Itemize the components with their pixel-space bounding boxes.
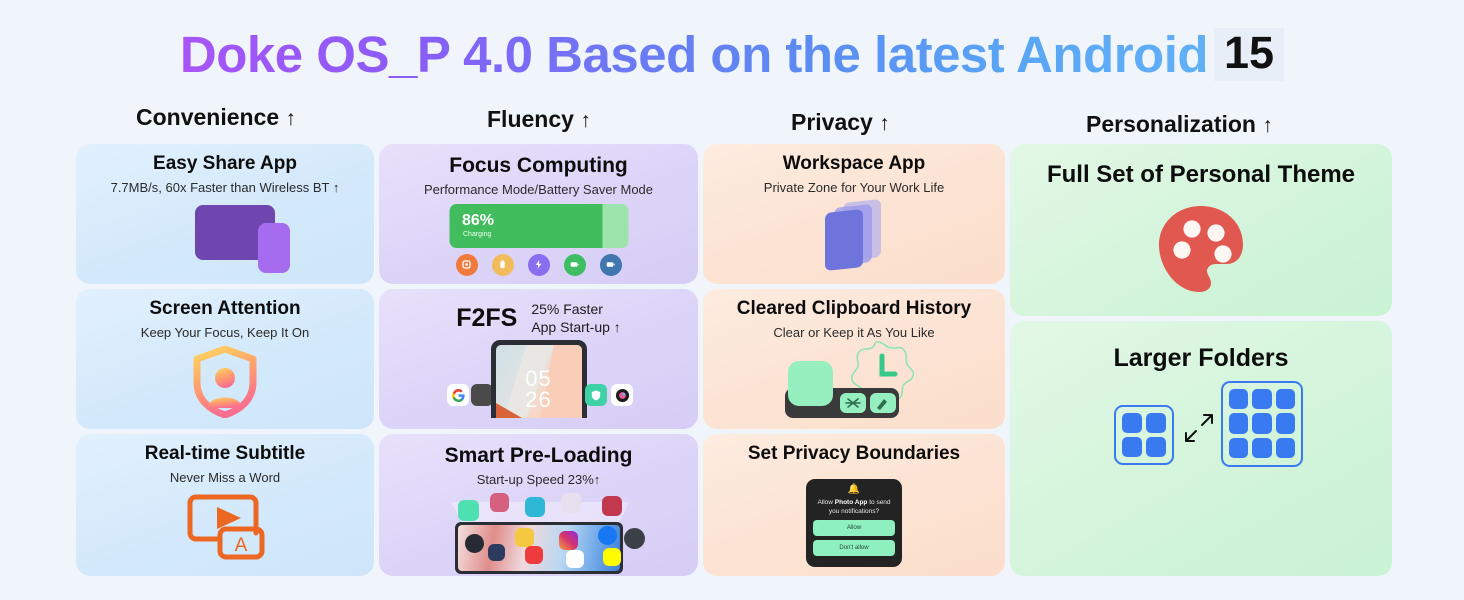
card-title: Full Set of Personal Theme bbox=[1010, 162, 1392, 188]
app-icon-game-4 bbox=[602, 496, 622, 516]
column-header-convenience: Convenience ↑ bbox=[136, 104, 296, 131]
column-header-personalization-label: Personalization bbox=[1086, 111, 1256, 137]
f2fs-name: F2FS bbox=[456, 304, 517, 333]
grid-cell bbox=[1122, 413, 1142, 433]
promo-page: Doke OS_P 4.0 Based on the latest Androi… bbox=[0, 0, 1464, 600]
app-icon-facebook bbox=[598, 526, 617, 545]
shield-person-icon bbox=[76, 340, 374, 422]
app-icon-game-1 bbox=[490, 493, 509, 512]
android-version-badge: 15 bbox=[1214, 28, 1284, 81]
card-title: Screen Attention bbox=[76, 299, 374, 320]
allow-button[interactable]: Allow bbox=[813, 520, 895, 536]
column-header-privacy: Privacy ↑ bbox=[791, 109, 890, 136]
app-icon-game-2 bbox=[525, 497, 545, 517]
card-title: Set Privacy Boundaries bbox=[703, 444, 1005, 465]
card-cleared-clipboard-history[interactable]: Cleared Clipboard History Clear or Keep … bbox=[703, 289, 1005, 429]
grid-cell bbox=[1276, 413, 1295, 434]
column-header-fluency-label: Fluency bbox=[487, 106, 574, 132]
card-f2fs[interactable]: F2FS 25% Faster App Start-up ↑ bbox=[379, 289, 698, 429]
cpu-chip-icon[interactable] bbox=[456, 254, 478, 276]
f2fs-desc-line1: 25% Faster bbox=[531, 301, 621, 319]
permission-text-before: Allow bbox=[817, 499, 834, 506]
card-real-time-subtitle[interactable]: Real-time Subtitle Never Miss a Word A bbox=[76, 434, 374, 576]
page-title-text: Doke OS_P 4.0 Based on the latest Androi… bbox=[180, 25, 1208, 84]
battery-bar: 86% Charging bbox=[449, 204, 628, 248]
card-larger-folders[interactable]: Larger Folders bbox=[1010, 321, 1392, 576]
app-icon-game-5 bbox=[488, 544, 505, 561]
app-icon-wps bbox=[525, 546, 543, 564]
app-icon-snapchat bbox=[603, 548, 621, 566]
card-title: Real-time Subtitle bbox=[76, 444, 374, 465]
clock-minutes: 26 bbox=[496, 390, 582, 411]
notification-permission-dialog: 🔔 Allow Photo App to send you notificati… bbox=[703, 477, 1005, 573]
column-header-fluency: Fluency ↑ bbox=[487, 106, 591, 133]
camera-app-icon bbox=[611, 384, 633, 406]
battery-saver-icon[interactable] bbox=[564, 254, 586, 276]
grid-cell bbox=[1252, 389, 1271, 410]
grid-cell bbox=[1122, 437, 1142, 457]
app-icon-security bbox=[458, 500, 479, 521]
tablet-home-screen-icon: 05 26 bbox=[379, 336, 698, 416]
f2fs-desc-line2: App Start-up ↑ bbox=[531, 319, 621, 337]
card-layer-front bbox=[825, 209, 863, 271]
video-subtitle-graphic: A bbox=[184, 491, 266, 568]
grid-cell bbox=[1146, 413, 1166, 433]
tablet-floating-apps-icon bbox=[379, 488, 698, 576]
card-workspace-app[interactable]: Workspace App Private Zone for Your Work… bbox=[703, 144, 1005, 284]
card-title: Smart Pre-Loading bbox=[379, 444, 698, 467]
paint-palette-icon bbox=[1010, 202, 1392, 298]
battery-percent-label: 86% bbox=[462, 212, 494, 230]
up-arrow-icon: ↑ bbox=[879, 112, 890, 135]
stacked-cards-icon bbox=[703, 195, 1005, 279]
card-title: Larger Folders bbox=[1010, 345, 1392, 373]
column-header-privacy-label: Privacy bbox=[791, 109, 873, 135]
up-arrow-icon: ↑ bbox=[1262, 114, 1273, 137]
tablet-and-phone-icon bbox=[76, 195, 374, 273]
battery-status-label: Charging bbox=[463, 231, 491, 238]
card-title: Cleared Clipboard History bbox=[703, 299, 1005, 320]
f2fs-heading: F2FS 25% Faster App Start-up ↑ bbox=[379, 301, 698, 336]
app-icon-game-3 bbox=[561, 493, 581, 513]
video-subtitle-icon: A bbox=[76, 485, 374, 571]
folder-grid-3x3 bbox=[1221, 381, 1303, 467]
battery-standard-icon[interactable] bbox=[600, 254, 622, 276]
phone-shape bbox=[258, 223, 290, 273]
folder-grid-expand-icon bbox=[1010, 373, 1392, 543]
card-subtitle: Private Zone for Your Work Life bbox=[703, 180, 1005, 196]
app-icon-chrome bbox=[465, 534, 484, 553]
card-smart-preloading[interactable]: Smart Pre-Loading Start-up Speed 23%↑ bbox=[379, 434, 698, 576]
column-header-convenience-label: Convenience bbox=[136, 104, 279, 130]
svg-text:A: A bbox=[235, 535, 248, 556]
permission-dialog: 🔔 Allow Photo App to send you notificati… bbox=[806, 479, 902, 567]
clipboard-clock-icon bbox=[703, 340, 1005, 420]
dont-allow-button[interactable]: Don't allow bbox=[813, 540, 895, 556]
grid-cell bbox=[1252, 413, 1271, 434]
app-icon-settings bbox=[624, 528, 645, 549]
column-headers: Convenience ↑ Fluency ↑ Privacy ↑ Person… bbox=[0, 100, 1464, 142]
feature-card-grid: Easy Share App 7.7MB/s, 60x Faster than … bbox=[0, 144, 1464, 580]
lightning-bolt-icon[interactable] bbox=[528, 254, 550, 276]
grid-cell bbox=[1276, 438, 1295, 459]
bell-icon: 🔔 bbox=[813, 485, 895, 495]
battery-vertical-icon[interactable] bbox=[492, 254, 514, 276]
grid-cell bbox=[1276, 389, 1295, 410]
grid-cell bbox=[1229, 438, 1248, 459]
permission-app-name: Photo App bbox=[835, 499, 868, 506]
card-subtitle: 7.7MB/s, 60x Faster than Wireless BT ↑ bbox=[76, 180, 374, 196]
lockscreen-clock: 05 26 bbox=[496, 369, 582, 411]
card-set-privacy-boundaries[interactable]: Set Privacy Boundaries 🔔 Allow Photo App… bbox=[703, 434, 1005, 576]
palette-graphic bbox=[1154, 202, 1248, 301]
card-subtitle: Clear or Keep it As You Like bbox=[703, 325, 1005, 341]
folder-grid-2x2 bbox=[1114, 405, 1174, 465]
card-personal-theme[interactable]: Full Set of Personal Theme bbox=[1010, 144, 1392, 316]
app-icon-mail bbox=[515, 528, 534, 547]
card-subtitle: Start-up Speed 23%↑ bbox=[379, 472, 698, 488]
card-subtitle: Never Miss a Word bbox=[76, 470, 374, 486]
tablet-device: 05 26 bbox=[491, 340, 587, 418]
grid-cell bbox=[1229, 413, 1248, 434]
card-title: Workspace App bbox=[703, 154, 1005, 175]
card-subtitle: Keep Your Focus, Keep It On bbox=[76, 325, 374, 341]
card-subtitle: Performance Mode/Battery Saver Mode bbox=[379, 182, 698, 198]
grid-cell bbox=[1146, 437, 1166, 457]
page-title: Doke OS_P 4.0 Based on the latest Androi… bbox=[0, 18, 1464, 90]
security-app-icon bbox=[585, 384, 607, 406]
card-title: Focus Computing bbox=[379, 154, 698, 177]
grid-cell bbox=[1252, 438, 1271, 459]
app-icon-instagram bbox=[559, 531, 578, 550]
app-icon-youtube bbox=[566, 550, 584, 568]
column-header-personalization: Personalization ↑ bbox=[1086, 111, 1273, 138]
expand-arrows-icon bbox=[1182, 411, 1216, 451]
up-arrow-icon: ↑ bbox=[580, 109, 591, 132]
up-arrow-icon: ↑ bbox=[286, 107, 297, 130]
card-screen-attention[interactable]: Screen Attention Keep Your Focus, Keep I… bbox=[76, 289, 374, 429]
mode-chip-row bbox=[456, 254, 622, 276]
google-app-icon bbox=[447, 384, 469, 406]
battery-status-graphic: 86% Charging bbox=[379, 198, 698, 276]
card-title: Easy Share App bbox=[76, 154, 374, 175]
grid-cell bbox=[1229, 389, 1248, 410]
card-easy-share-app[interactable]: Easy Share App 7.7MB/s, 60x Faster than … bbox=[76, 144, 374, 284]
card-focus-computing[interactable]: Focus Computing Performance Mode/Battery… bbox=[379, 144, 698, 284]
f2fs-description: 25% Faster App Start-up ↑ bbox=[531, 301, 621, 336]
permission-dialog-text: Allow Photo App to send you notification… bbox=[813, 499, 895, 517]
shield-graphic bbox=[192, 346, 258, 423]
tablet-screen: 05 26 bbox=[496, 345, 582, 418]
